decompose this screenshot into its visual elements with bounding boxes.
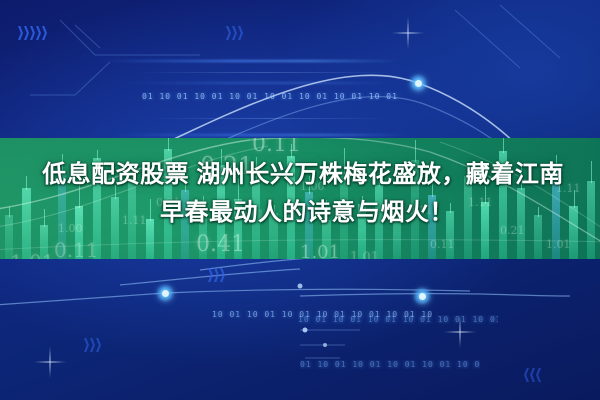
headline-block: 低息配资股票 湖州长兴万株梅花盛放，藏着江南 早春最动人的诗意与烟火！	[0, 156, 600, 232]
chart-annotation-2: 0.41	[196, 232, 245, 257]
chevron-right-lower-left-icon	[84, 338, 101, 352]
glow-node-lower-left-icon	[152, 280, 178, 306]
sparkle-star-top-icon	[391, 16, 425, 50]
binary-ribbon-3: 01 10 01 10 01 10 01 10 01 10 01 10 01 1…	[300, 360, 480, 369]
binary-ribbon-4: 10 01 10 01 10 01 10 01 10 01 10 01 10 0…	[212, 310, 432, 319]
chart-annotation-16: 0.11	[430, 238, 455, 251]
chevron-left-bottom-right-icon	[524, 368, 541, 382]
headline-line-2: 早春最动人的诗意与烟火！	[0, 194, 600, 232]
sparkle-star-bottom-left-icon	[33, 345, 67, 379]
chart-annotation-0: 0.11	[252, 138, 301, 157]
chart-annotation-5: 1.01	[10, 250, 55, 259]
chart-annotation-3: 1.01	[300, 242, 340, 259]
banner-image: 01 10 01 10 01 10 01 10 01 10 01 10 01 1…	[0, 0, 600, 400]
glow-node-lower-right-icon	[409, 283, 435, 309]
chart-annotation-10: 1.01	[350, 250, 379, 259]
hairline-a	[140, 72, 390, 73]
binary-ribbon-2: 10 01 10 01 10 01 10 01 10 01 10 01 10 0…	[298, 315, 498, 324]
chart-annotation-4: 0.11	[54, 238, 99, 259]
glow-node-arc-peak-icon	[405, 70, 431, 96]
headline-line-1: 低息配资股票 湖州长兴万株梅花盛放，藏着江南	[0, 156, 600, 194]
sparkle-star-bottom-mid-icon	[443, 315, 477, 349]
chevron-right-top-left-icon	[18, 26, 47, 40]
glow-line-upper	[100, 60, 400, 62]
hairline-b	[150, 118, 390, 119]
chevron-right-lower-icon	[208, 268, 225, 282]
glow-line-upper-2	[120, 82, 390, 84]
chevron-right-top-mid-icon	[226, 26, 243, 40]
glow-line-lower	[110, 134, 410, 136]
binary-ribbon-1: 01 10 01 10 01 10 01 10 01 10 01 10 01 1…	[142, 92, 402, 101]
chart-annotation-14: 1.01	[546, 238, 571, 251]
